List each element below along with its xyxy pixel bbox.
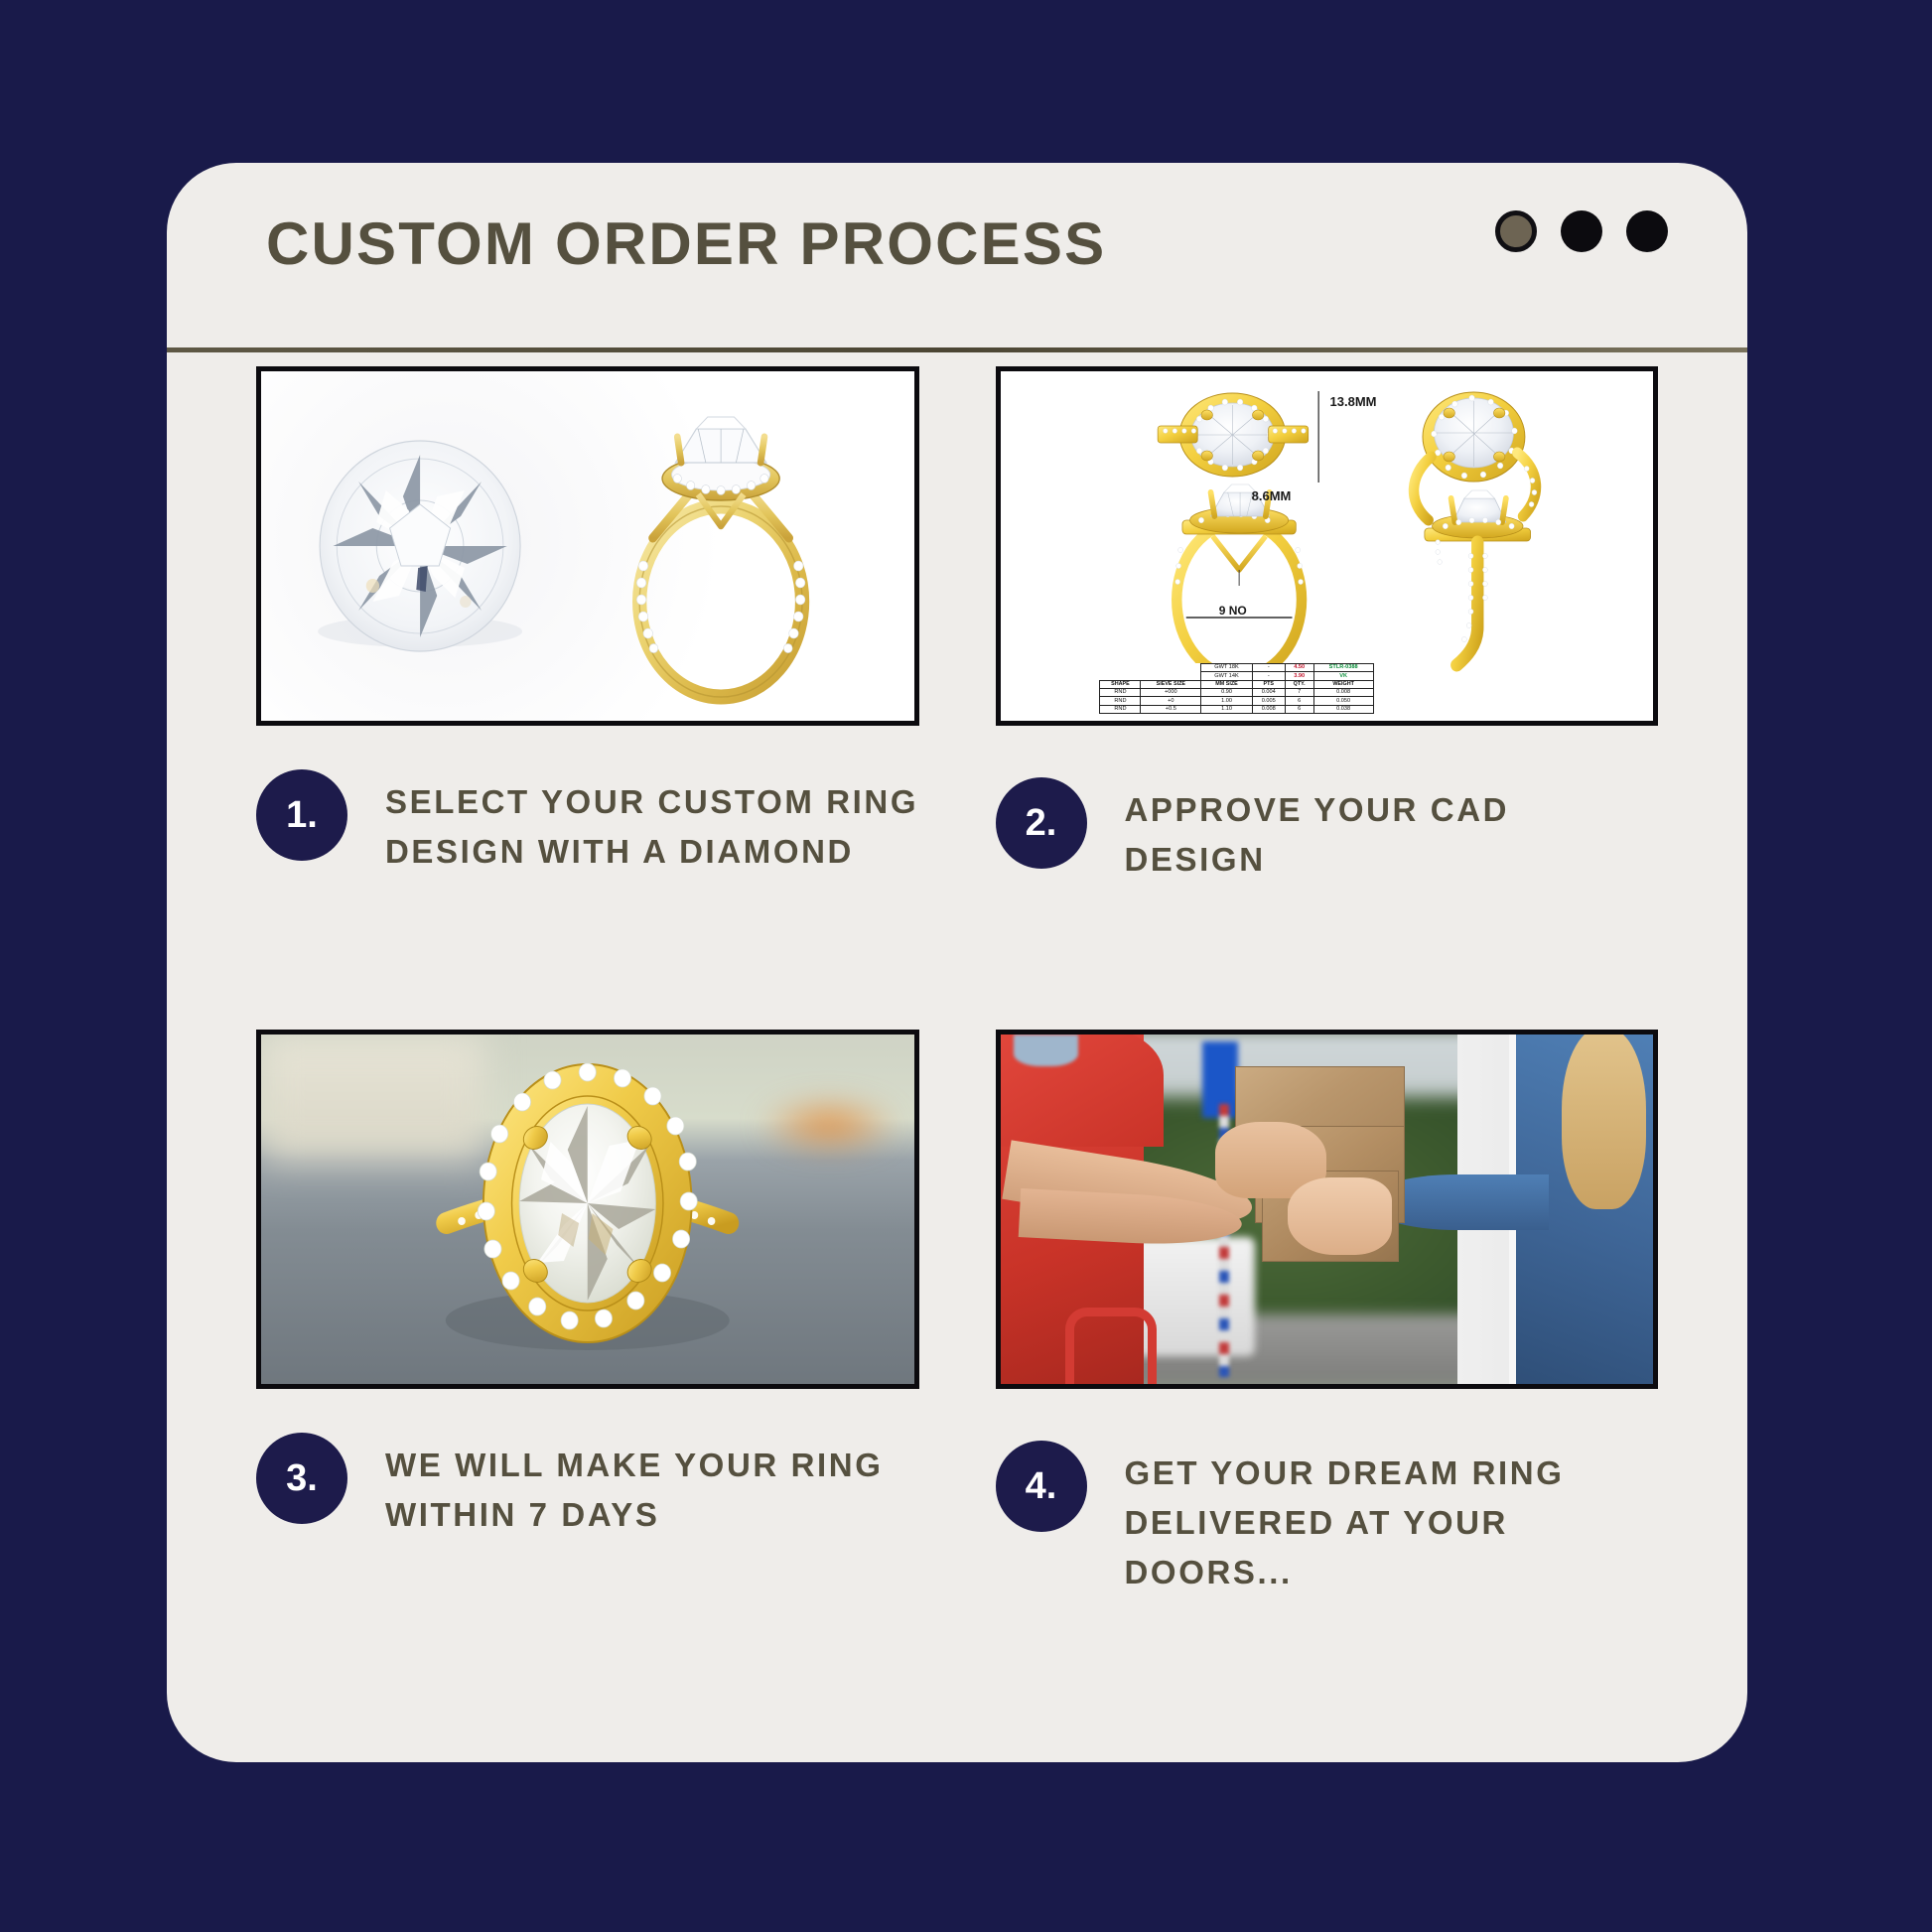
step-4: 4. GET YOUR DREAM RING DELIVERED AT YOUR… <box>996 1030 1659 1653</box>
step-3-caption: 3. WE WILL MAKE YOUR RING WITHIN 7 DAYS <box>256 1427 919 1645</box>
step-3-text: WE WILL MAKE YOUR RING WITHIN 7 DAYS <box>385 1427 919 1540</box>
cad-th-sieve: SIEVE SIZE <box>1141 680 1201 688</box>
finished-ring-photo-illustration <box>261 1035 914 1384</box>
cad-cell-mm: 1.00 <box>1201 697 1253 705</box>
steps-grid: 1. SELECT YOUR CUSTOM RING DESIGN WITH A… <box>167 366 1747 1653</box>
window-dot-one-icon[interactable] <box>1495 210 1537 252</box>
cad-ring-size-label: 9 NO <box>1219 604 1247 618</box>
step-1-text: SELECT YOUR CUSTOM RING DESIGN WITH A DI… <box>385 763 919 877</box>
step-2-image: 13.8MM 8.6MM 9 NO GWT 18K - 4.50 STLR-03… <box>996 366 1659 726</box>
step-1: 1. SELECT YOUR CUSTOM RING DESIGN WITH A… <box>256 366 919 990</box>
step-4-caption: 4. GET YOUR DREAM RING DELIVERED AT YOUR… <box>996 1435 1659 1653</box>
cad-cell-sieve: +000 <box>1141 688 1201 696</box>
cad-code: STLR-0388 <box>1313 663 1373 671</box>
browser-card: CUSTOM ORDER PROCESS <box>167 163 1747 1762</box>
window-dot-three-icon[interactable] <box>1626 210 1668 252</box>
loose-diamond <box>320 441 520 651</box>
cad-table-row: RND +0 1.00 0.005 6 0.050 <box>1100 697 1373 705</box>
card-header: CUSTOM ORDER PROCESS <box>167 163 1747 361</box>
step-2: 13.8MM 8.6MM 9 NO GWT 18K - 4.50 STLR-03… <box>996 366 1659 990</box>
step-4-badge: 4. <box>996 1441 1087 1532</box>
cad-spec-table: GWT 18K - 4.50 STLR-0388 GWT 14K - 3.90 … <box>1099 663 1373 714</box>
cad-cell-sieve: +0 <box>1141 697 1201 705</box>
cad-cell-weight: 0.038 <box>1313 705 1373 713</box>
gold-halo-ring <box>636 417 805 697</box>
step-4-image <box>996 1030 1659 1389</box>
step-3-image <box>256 1030 919 1389</box>
header-divider <box>167 347 1747 352</box>
step-4-text: GET YOUR DREAM RING DELIVERED AT YOUR DO… <box>1125 1435 1659 1597</box>
customer-hair <box>1562 1030 1646 1209</box>
hand-trolley <box>1065 1308 1157 1384</box>
cad-view-top <box>1158 393 1309 477</box>
customer-hand <box>1288 1177 1392 1254</box>
cad-gwt14k-dash: - <box>1252 672 1285 680</box>
cad-view-profile <box>1174 484 1303 677</box>
cad-cell-shape: RND <box>1100 697 1141 705</box>
cad-cell-pts: 0.005 <box>1252 697 1285 705</box>
cad-cell-pts: 0.004 <box>1252 688 1285 696</box>
step-3-badge: 3. <box>256 1433 347 1524</box>
cad-cell-weight: 0.050 <box>1313 697 1373 705</box>
face-mask-icon <box>1014 1035 1079 1066</box>
cad-table-row-gwt18k: GWT 18K - 4.50 STLR-0388 <box>1100 663 1373 671</box>
cad-view-section <box>1424 490 1530 665</box>
step-1-image <box>256 366 919 726</box>
cad-cell-mm: 1.10 <box>1201 705 1253 713</box>
cad-gwt14k-value: 3.90 <box>1285 672 1313 680</box>
window-dot-two-icon[interactable] <box>1561 210 1602 252</box>
step-2-text: APPROVE YOUR CAD DESIGN <box>1125 771 1659 885</box>
cad-cell-shape: RND <box>1100 688 1141 696</box>
cad-table-row: RND +000 0.90 0.004 7 0.008 <box>1100 688 1373 696</box>
page-title: CUSTOM ORDER PROCESS <box>266 214 1106 274</box>
cad-table-header-row: SHAPE SIEVE SIZE MM SIZE PTS QTY. WEIGHT <box>1100 680 1373 688</box>
cad-cell-qty: 6 <box>1285 705 1313 713</box>
step-3: 3. WE WILL MAKE YOUR RING WITHIN 7 DAYS <box>256 1030 919 1653</box>
cad-dim-mid-label: 8.6MM <box>1252 488 1292 503</box>
cad-initials: VK <box>1313 672 1373 680</box>
step-2-badge: 2. <box>996 777 1087 869</box>
step-1-badge: 1. <box>256 769 347 861</box>
cad-cell-mm: 0.90 <box>1201 688 1253 696</box>
cad-gwt18k-dash: - <box>1252 663 1285 671</box>
window-controls <box>1495 210 1668 252</box>
cad-cell-pts: 0.008 <box>1252 705 1285 713</box>
cad-cell-sieve: +0.5 <box>1141 705 1201 713</box>
step-1-caption: 1. SELECT YOUR CUSTOM RING DESIGN WITH A… <box>256 763 919 982</box>
cad-cell-shape: RND <box>1100 705 1141 713</box>
cad-th-weight: WEIGHT <box>1313 680 1373 688</box>
cad-cell-qty: 6 <box>1285 697 1313 705</box>
cad-gwt18k-value: 4.50 <box>1285 663 1313 671</box>
cad-th-qty: QTY. <box>1285 680 1313 688</box>
cad-cell-weight: 0.008 <box>1313 688 1373 696</box>
diamond-and-ring-illustration <box>261 371 914 721</box>
cad-gwt14k-label: GWT 14K <box>1201 672 1253 680</box>
cad-th-mm: MM SIZE <box>1201 680 1253 688</box>
cad-cell-qty: 7 <box>1285 688 1313 696</box>
cad-th-pts: PTS <box>1252 680 1285 688</box>
cad-dim-top-label: 13.8MM <box>1330 394 1377 409</box>
cad-gwt18k-label: GWT 18K <box>1201 663 1253 671</box>
cad-table-row-gwt14k: GWT 14K - 3.90 VK <box>1100 672 1373 680</box>
cad-th-shape: SHAPE <box>1100 680 1141 688</box>
cad-table-row: RND +0.5 1.10 0.008 6 0.038 <box>1100 705 1373 713</box>
step-2-caption: 2. APPROVE YOUR CAD DESIGN <box>996 771 1659 990</box>
